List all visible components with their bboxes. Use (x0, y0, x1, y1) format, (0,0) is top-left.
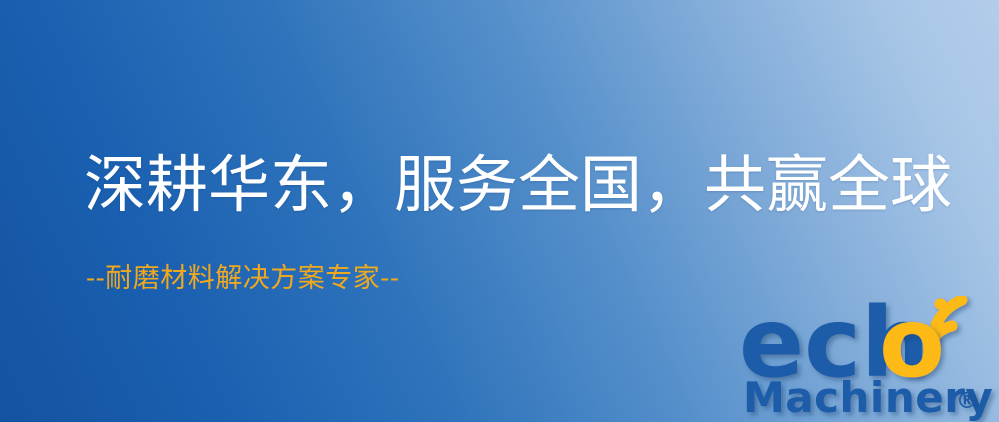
page-subtitle: --耐磨材料解决方案专家-- (86, 263, 400, 295)
company-logo[interactable]: ech o Machinery ® (741, 296, 999, 422)
hero-banner: 深耕华东，服务全国，共赢全球 --耐磨材料解决方案专家-- ech o Mach… (0, 0, 999, 422)
echo-machinery-logo-graphic: ech o Machinery ® (741, 296, 999, 422)
page-title: 深耕华东，服务全国，共赢全球 (84, 148, 952, 221)
logo-trademark-symbol: ® (956, 389, 978, 414)
